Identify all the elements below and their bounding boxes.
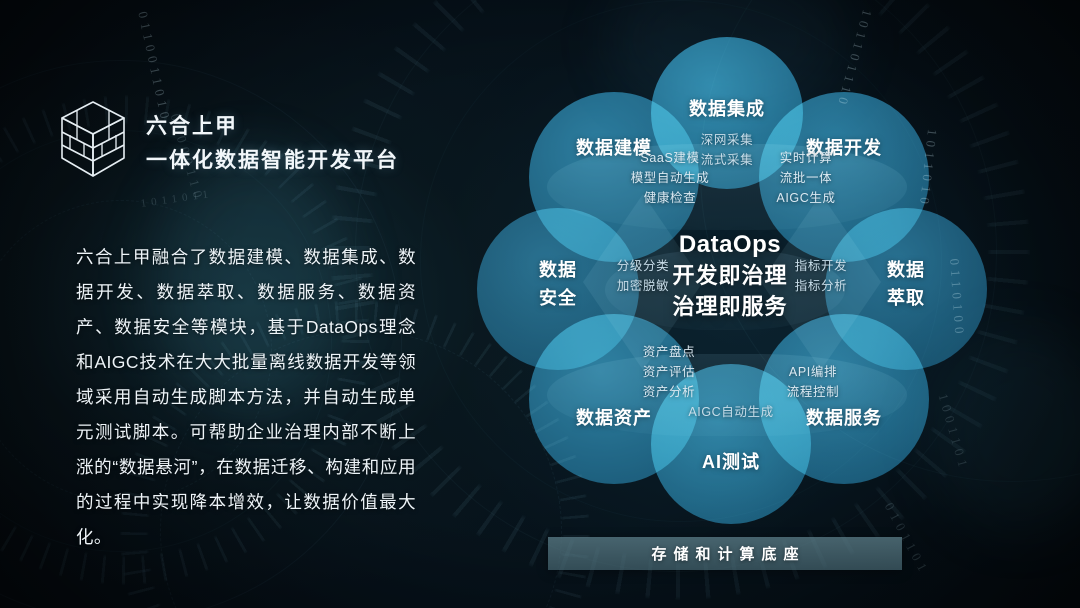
tag-asset-evaluation: 资产评估 xyxy=(599,362,739,382)
core-line-dataops: DataOps xyxy=(645,230,815,260)
tag-stream-batch-unified: 流批一体 xyxy=(731,168,881,188)
overlap-tags-data-asset: 资产盘点 资产评估 资产分析 xyxy=(599,342,739,402)
tag-model-autogen: 模型自动生成 xyxy=(595,168,745,188)
brick-block-logo-icon xyxy=(56,98,130,182)
intro-paragraph: 六合上甲融合了数据建模、数据集成、数据开发、数据萃取、数据服务、数据资产、数据安… xyxy=(76,240,416,555)
overlap-tags-data-development: 实时计算 流批一体 AIGC生成 xyxy=(731,148,881,208)
tag-aigc-autogen: AIGC自动生成 xyxy=(663,402,799,422)
venn-core-message: DataOps 开发即治理 治理即服务 xyxy=(645,230,815,322)
storage-compute-base-label: 存储和计算底座 xyxy=(644,543,805,564)
storage-compute-base-bar: 存储和计算底座 xyxy=(548,537,902,570)
tag-health-check: 健康检查 xyxy=(595,188,745,208)
core-line-gov-serv: 治理即服务 xyxy=(645,291,815,322)
capability-venn-diagram: 数据集成 数据建模 数据开发 数据 安全 数据 萃取 数据资产 数据服务 xyxy=(455,18,1055,538)
venn-label-ai-testing: AI测试 xyxy=(651,448,811,474)
tag-asset-analysis: 资产分析 xyxy=(599,382,739,402)
brand-tagline: 一体化数据智能开发平台 xyxy=(146,144,399,174)
tag-api-orchestration: API编排 xyxy=(743,362,883,382)
tag-realtime-compute: 实时计算 xyxy=(731,148,881,168)
overlap-tags-ai-testing: AIGC自动生成 xyxy=(663,402,799,422)
brand-block: 六合上甲 一体化数据智能开发平台 xyxy=(56,98,399,182)
overlap-tags-data-service: API编排 流程控制 xyxy=(743,362,883,402)
brand-text: 六合上甲 一体化数据智能开发平台 xyxy=(146,106,399,174)
tag-asset-inventory: 资产盘点 xyxy=(599,342,739,362)
tag-deepweb-collect: 深网采集 xyxy=(667,130,787,150)
tag-process-control: 流程控制 xyxy=(743,382,883,402)
slide-canvas: 0110011010 01000110 1011011 101101110 10… xyxy=(0,0,1080,608)
tag-aigc-generation: AIGC生成 xyxy=(731,188,881,208)
brand-name: 六合上甲 xyxy=(146,110,399,140)
core-line-dev-gov: 开发即治理 xyxy=(645,260,815,291)
